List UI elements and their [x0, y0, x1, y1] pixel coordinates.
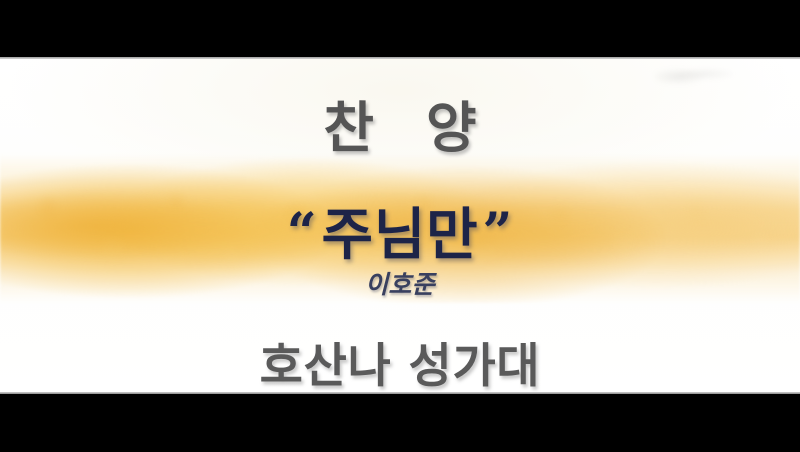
composer-credit: 이호준: [0, 265, 800, 301]
slide-text-layer: 찬 양 “주님만” 이호준 호산나 성가대: [0, 57, 800, 394]
choir-name: 호산나 성가대: [0, 327, 800, 394]
opening-quote-mark: “: [287, 202, 318, 263]
slide-seam-bottom: [0, 392, 800, 394]
slide-seam-top: [0, 57, 800, 59]
letterbox-bar-bottom: [0, 394, 800, 452]
song-title-line: “주님만”: [0, 190, 800, 271]
video-frame: 찬 양 “주님만” 이호준 호산나 성가대: [0, 0, 800, 452]
song-title-text: 주님만: [321, 203, 478, 268]
closing-quote-mark: ”: [483, 202, 514, 263]
letterbox-bar-top: [0, 0, 800, 57]
title-slide: 찬 양 “주님만” 이호준 호산나 성가대: [0, 57, 800, 394]
slide-heading: 찬 양: [0, 83, 800, 163]
